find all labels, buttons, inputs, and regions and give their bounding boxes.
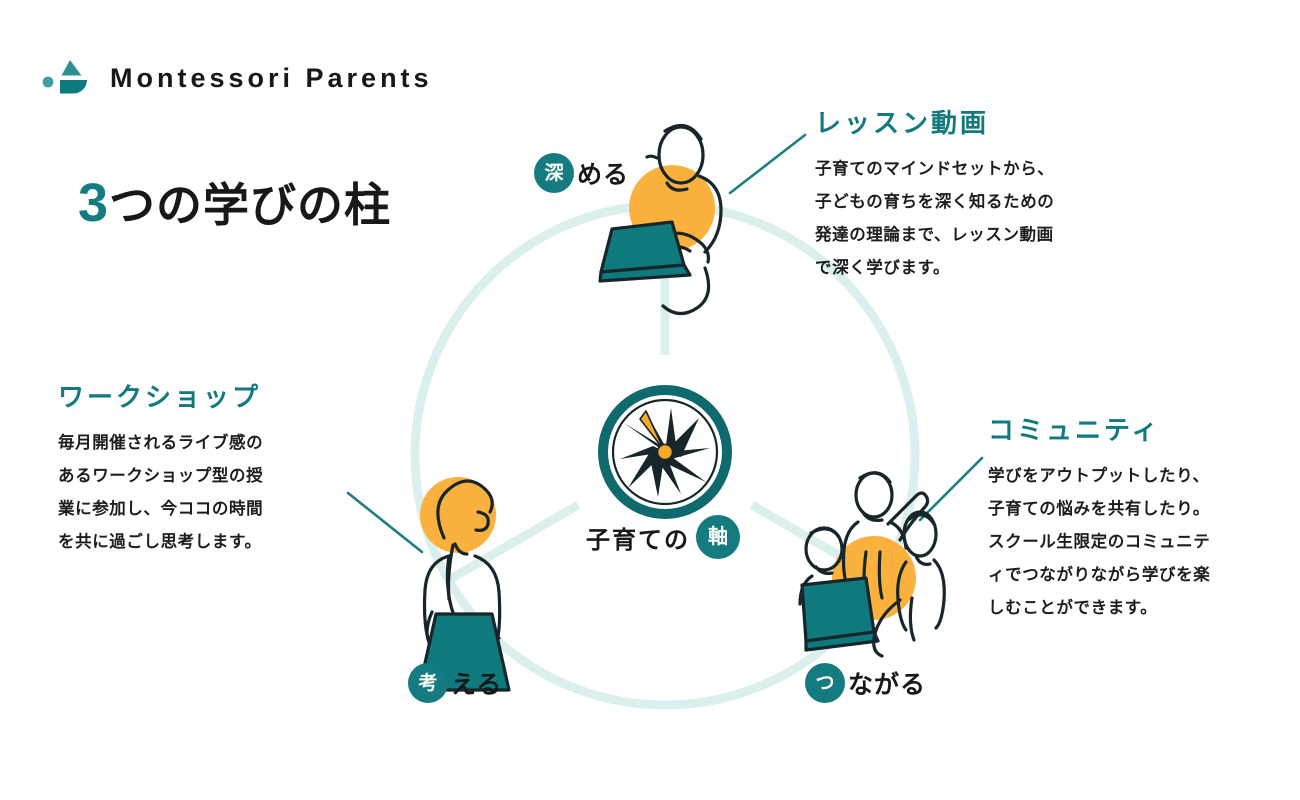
block-community-line: 学びをアウトプットしたり、	[988, 460, 1210, 493]
tablet-icon	[802, 578, 874, 641]
badge-deepen: 深	[534, 153, 574, 193]
block-workshop-line: あるワークショップ型の授	[58, 460, 263, 493]
node-label-deepen-rest: める	[577, 155, 629, 191]
block-workshop-line: 毎月開催されるライブ感の	[58, 427, 263, 460]
node-label-connect[interactable]: つ ながる	[805, 663, 926, 703]
block-workshop-line: 業に参加し、今ココの時間	[58, 493, 263, 526]
block-community-title: コミュニティ	[988, 415, 1210, 446]
block-workshop-line: を共に過ごし思考します。	[58, 526, 263, 559]
block-lesson-line: で深く学びます。	[815, 252, 1054, 285]
center-caption-text: 子育ての	[586, 520, 690, 555]
badge-think: 考	[408, 663, 448, 703]
badge-connect: つ	[805, 663, 845, 703]
block-lesson-video: レッスン動画 子育てのマインドセットから、 子どもの育ちを深く知るための 発達の…	[815, 108, 1054, 285]
center-caption: 子育ての 軸	[586, 515, 740, 559]
three-people-group-icon	[800, 473, 944, 656]
infographic-canvas: Montessori Parents 3つの学びの柱	[0, 0, 1300, 800]
block-community: コミュニティ 学びをアウトプットしたり、 子育ての悩みを共有したり。 スクール生…	[988, 415, 1210, 625]
node-label-think[interactable]: 考 える	[408, 663, 502, 703]
block-community-body: 学びをアウトプットしたり、 子育ての悩みを共有したり。 スクール生限定のコミュニ…	[988, 460, 1210, 625]
block-lesson-line: 発達の理論まで、レッスン動画	[815, 219, 1054, 252]
node-label-deepen[interactable]: 深 める	[534, 153, 629, 193]
connector-lesson	[730, 135, 805, 193]
node-label-think-rest: える	[451, 665, 502, 701]
badge-axis: 軸	[696, 515, 740, 559]
block-community-line: スクール生限定のコミュニテ	[988, 526, 1210, 559]
block-workshop: ワークショップ 毎月開催されるライブ感の あるワークショップ型の授 業に参加し、…	[58, 382, 263, 559]
compass-icon	[603, 390, 727, 514]
block-community-line: 子育ての悩みを共有したり。	[988, 493, 1210, 526]
block-lesson-body: 子育てのマインドセットから、 子どもの育ちを深く知るための 発達の理論まで、レッ…	[815, 153, 1054, 285]
person-thinking-icon	[419, 477, 509, 690]
connector-community	[920, 458, 982, 520]
node-label-connect-rest: ながる	[848, 665, 926, 701]
compass-hub-dot	[658, 445, 673, 460]
block-lesson-line: 子育てのマインドセットから、	[815, 153, 1054, 186]
block-lesson-line: 子どもの育ちを深く知るための	[815, 186, 1054, 219]
block-community-line: ィでつながりながら学びを楽	[988, 559, 1210, 592]
block-workshop-body: 毎月開催されるライブ感の あるワークショップ型の授 業に参加し、今ココの時間 を…	[58, 427, 263, 559]
block-workshop-title: ワークショップ	[58, 382, 263, 413]
block-community-line: しむことができます。	[988, 592, 1210, 625]
connector-workshop	[348, 493, 422, 552]
block-lesson-title: レッスン動画	[815, 108, 1054, 139]
